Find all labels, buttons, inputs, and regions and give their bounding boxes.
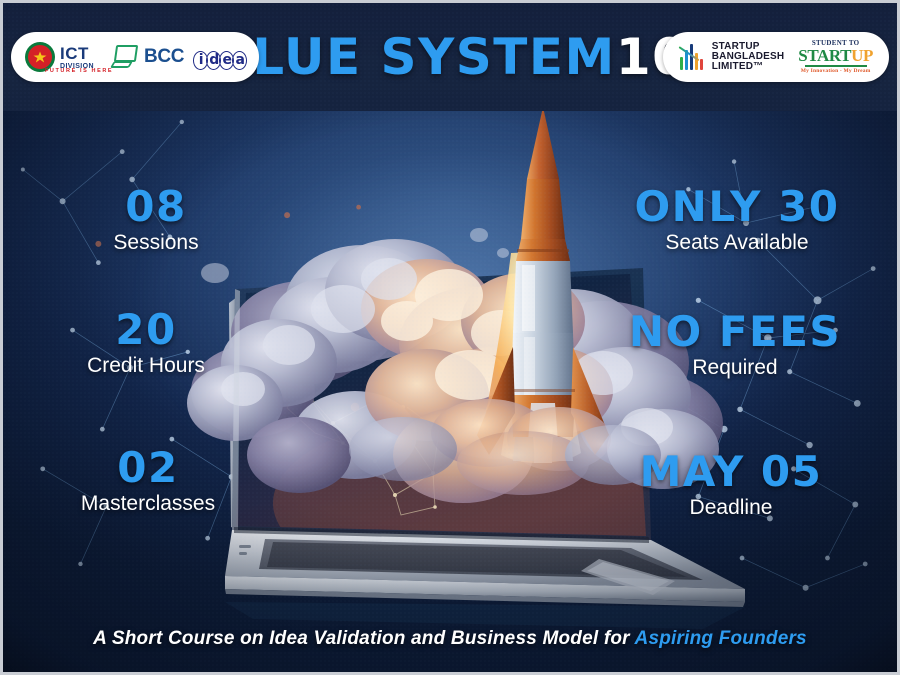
s2s-line2-a: START [798,46,851,65]
s2s-line2-b: UP [851,46,873,65]
stat-credit-hours-label: Credit Hours [31,353,261,379]
startup-bangladesh-logo[interactable]: STARTUP BANGLADESH LIMITED™ [679,42,785,73]
sbl-line3: LIMITED™ [712,62,785,72]
tagline: A Short Course on Idea Validation and Bu… [3,628,897,650]
left-logo-pill[interactable]: ICT DIVISION FUTURE IS HERE BCC idea [11,32,259,82]
stat-fees-label: Required [619,355,851,381]
stat-deadline[interactable]: MAY 05 Deadline [615,450,847,521]
stat-seats-number: ONLY 30 [615,185,859,229]
stat-credit-hours-number: 20 [31,308,261,352]
tagline-accent: Aspiring Founders [635,628,807,649]
stat-credit-hours[interactable]: 20 Credit Hours [31,308,261,379]
stat-deadline-number: MAY 05 [615,450,847,494]
student-to-startup-logo[interactable]: STUDENT TO STARTUP My Innovation - My Dr… [798,40,873,75]
right-logo-pill[interactable]: STARTUP BANGLADESH LIMITED™ STUDENT TO S… [663,32,889,82]
s2s-tagline: My Innovation - My Dream [801,69,871,75]
stat-sessions[interactable]: 08 Sessions [41,185,271,256]
stat-fees-number: NO FEES [619,310,851,354]
idea-logo[interactable]: idea [193,45,245,70]
stat-seats[interactable]: ONLY 30 Seats Available [615,185,859,256]
stat-deadline-label: Deadline [615,495,847,521]
startup-bangladesh-mark-icon [679,44,705,70]
stat-sessions-number: 08 [41,185,271,229]
tagline-main: A Short Course on Idea Validation and Bu… [93,628,634,649]
s2s-line2: STARTUP [798,47,873,64]
stat-sessions-label: Sessions [41,230,271,256]
stat-masterclasses[interactable]: 02 Masterclasses [29,446,267,517]
stat-fees[interactable]: NO FEES Required [619,310,851,381]
bcc-logo[interactable]: BCC [112,45,184,69]
stat-seats-label: Seats Available [615,230,859,256]
stat-masterclasses-number: 02 [29,446,267,490]
header-logo-row: ICT DIVISION FUTURE IS HERE BCC idea [3,25,897,89]
poster-root: VALUE SYSTEM101 ICT DIVISION FUTURE IS H… [0,0,900,675]
s2s-underline [805,65,867,67]
monitor-icon [112,45,140,69]
stat-masterclasses-label: Masterclasses [29,491,267,517]
bcc-logo-title: BCC [144,46,184,68]
ict-logo-title: ICT [60,45,94,62]
